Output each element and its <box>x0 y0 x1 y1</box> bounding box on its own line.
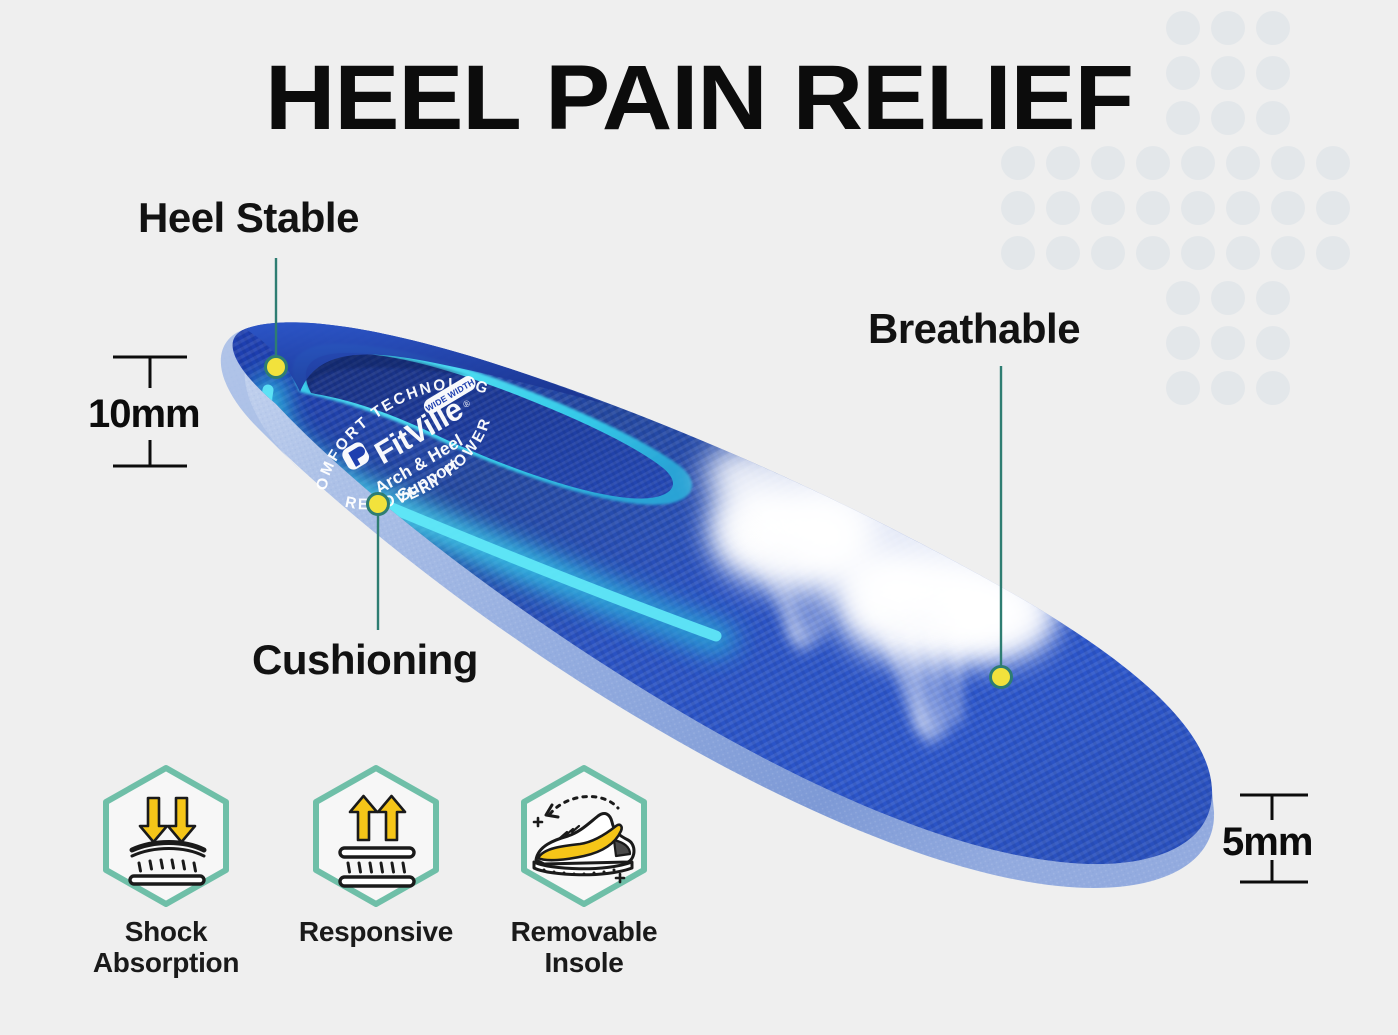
feature-removable-insole[interactable]: Removable Insole <box>486 762 682 979</box>
responsive-icon <box>302 762 450 910</box>
dimension-label-heel-thickness: 10mm <box>88 392 200 437</box>
feature-label-line1: Removable <box>486 916 682 947</box>
hotspot-breathable <box>991 667 1012 688</box>
feature-label-line1: Shock <box>68 916 264 947</box>
shock-absorption-icon <box>92 762 240 910</box>
hotspot-heel-stable <box>266 357 287 378</box>
feature-responsive[interactable]: Responsive <box>278 762 474 947</box>
feature-label-line1: Responsive <box>278 916 474 947</box>
feature-label-line2: Absorption <box>68 947 264 978</box>
feature-shock-absorption[interactable]: Shock Absorption <box>68 762 264 979</box>
callout-label-breathable: Breathable <box>868 305 1080 353</box>
hotspot-cushioning <box>368 494 389 515</box>
removable-insole-icon <box>510 762 658 910</box>
feature-label-line2: Insole <box>486 947 682 978</box>
infographic-canvas: HEEL PAIN RELIEF <box>0 0 1398 1035</box>
callout-label-cushioning: Cushioning <box>252 636 478 684</box>
callout-label-heel-stable: Heel Stable <box>138 194 359 242</box>
feature-badge-row: Shock Absorption <box>58 762 698 992</box>
dimension-label-forefoot-thickness: 5mm <box>1222 820 1312 865</box>
